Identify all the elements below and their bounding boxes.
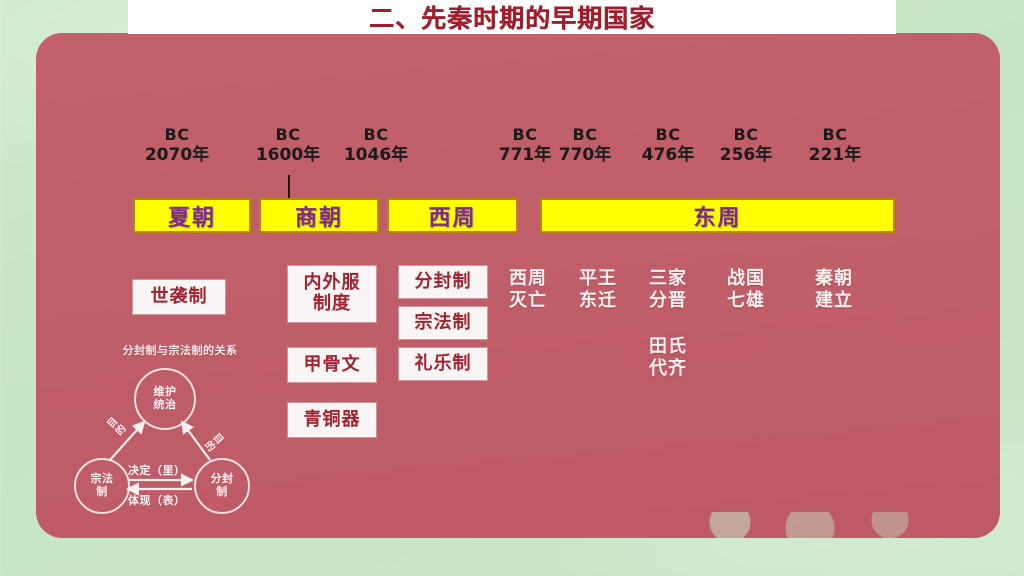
date-era: BC	[629, 126, 707, 145]
node-label: 分封 制	[211, 473, 234, 498]
event-zhanguo-qixiong: 战国 七雄	[718, 268, 774, 311]
timeline-date-7: BC 221年	[796, 126, 874, 165]
panel-scallop-decoration	[700, 512, 1000, 538]
keyword-label: 青铜器	[304, 410, 361, 431]
timeline-date-0: BC 2070年	[137, 126, 217, 165]
keyword-box-jiaguwen[interactable]: 甲骨文	[288, 348, 376, 382]
timeline-date-5: BC 476年	[629, 126, 707, 165]
dynasty-label: 西周	[428, 200, 476, 232]
dynasty-bar-xia[interactable]: 夏朝	[133, 198, 251, 233]
title-banner: 二、先秦时期的早期国家	[128, 0, 896, 34]
dynasty-label: 东周	[693, 200, 741, 232]
date-era: BC	[707, 126, 785, 145]
keyword-box-qingtongqi[interactable]: 青铜器	[288, 403, 376, 437]
date-era: BC	[546, 126, 624, 145]
date-year: 476年	[629, 145, 707, 165]
relationship-diagram: 分封制与宗法制的关系 维护 统治 宗法 制 分封 制 目的 目的 决定（里） 体…	[66, 340, 291, 530]
event-pingwang-dongqian: 平王 东迁	[570, 268, 626, 311]
date-era: BC	[137, 126, 217, 145]
keyword-box-neiwaifu[interactable]: 内外服 制度	[288, 266, 376, 322]
dynasty-bar-dongzhou[interactable]: 东周	[540, 198, 895, 233]
dynasty-bar-shang[interactable]: 商朝	[259, 198, 379, 233]
node-label: 维护 统治	[154, 386, 177, 411]
keyword-label: 内外服 制度	[304, 273, 361, 315]
date-year: 256年	[707, 145, 785, 165]
event-tianshi-daiqi: 田氏 代齐	[640, 336, 696, 379]
timeline-tick-1600	[288, 175, 290, 198]
edge-label-jueding: 决定（里）	[128, 462, 186, 478]
keyword-box-zongfazhi[interactable]: 宗法制	[399, 307, 487, 339]
timeline-date-4: BC 770年	[546, 126, 624, 165]
keyword-label: 礼乐制	[415, 354, 472, 375]
keyword-label: 分封制	[415, 272, 472, 293]
event-sanjia-fenjin: 三家 分晋	[640, 268, 696, 311]
node-label: 宗法 制	[91, 473, 114, 498]
date-era: BC	[796, 126, 874, 145]
dynasty-bar-xizhou[interactable]: 西周	[387, 198, 518, 233]
keyword-label: 世袭制	[151, 287, 208, 308]
timeline-date-2: BC 1046年	[336, 126, 416, 165]
dynasty-label: 夏朝	[168, 200, 216, 232]
event-qinchao-jianli: 秦朝 建立	[806, 268, 862, 311]
keyword-label: 宗法制	[415, 313, 472, 334]
diagram-node-zongfazhi[interactable]: 宗法 制	[74, 458, 130, 514]
diagram-node-weihu-tongzhi[interactable]: 维护 统治	[134, 368, 196, 430]
date-year: 1600年	[248, 145, 328, 165]
timeline-date-6: BC 256年	[707, 126, 785, 165]
edge-label-tixian: 体现（表）	[128, 492, 186, 508]
date-era: BC	[336, 126, 416, 145]
dynasty-label: 商朝	[295, 200, 343, 232]
timeline-date-1: BC 1600年	[248, 126, 328, 165]
date-year: 221年	[796, 145, 874, 165]
keyword-box-shixizhi[interactable]: 世袭制	[133, 280, 225, 314]
page-title: 二、先秦时期的早期国家	[369, 0, 655, 35]
event-xizhou-miewang: 西周 灭亡	[500, 268, 556, 311]
keyword-box-fengjianzhi[interactable]: 分封制	[399, 266, 487, 298]
diagram-node-fengjianzhi[interactable]: 分封 制	[194, 458, 250, 514]
keyword-label: 甲骨文	[304, 355, 361, 376]
date-year: 2070年	[137, 145, 217, 165]
date-year: 770年	[546, 145, 624, 165]
date-year: 1046年	[336, 145, 416, 165]
date-era: BC	[248, 126, 328, 145]
keyword-box-liyuezhi[interactable]: 礼乐制	[399, 348, 487, 380]
